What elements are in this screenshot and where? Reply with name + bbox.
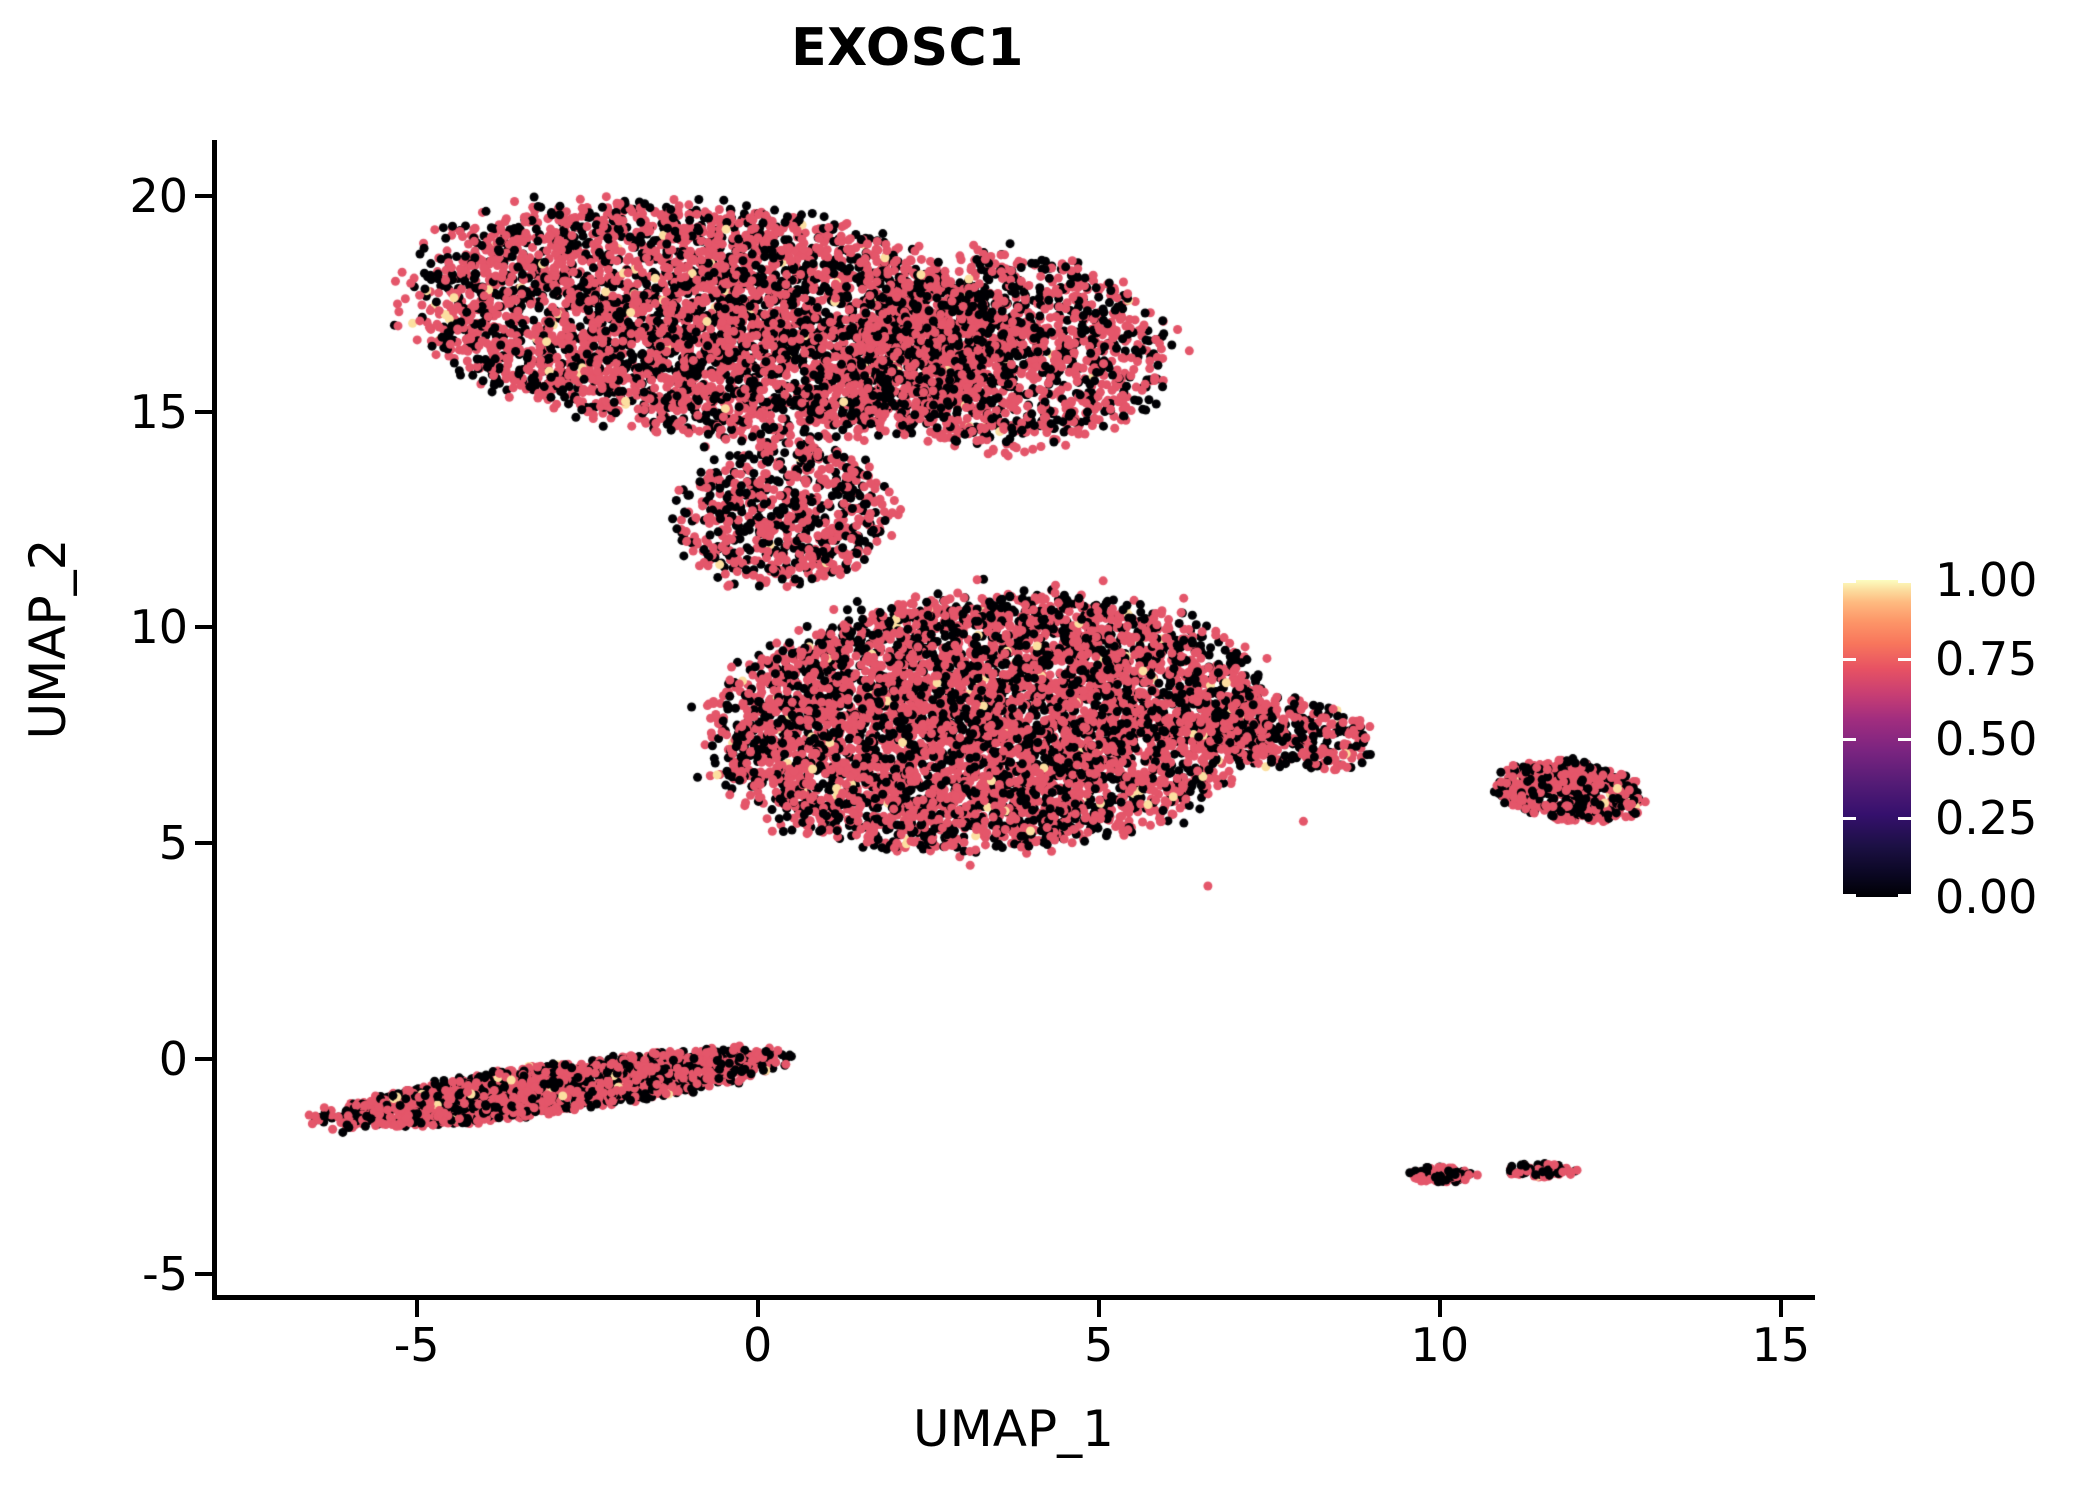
colorbar-tick-mark xyxy=(1898,894,1911,897)
x-tick-mark xyxy=(1438,1300,1442,1317)
y-tick-label: 10 xyxy=(129,600,188,654)
colorbar-tick-label: 0.25 xyxy=(1935,791,2037,845)
x-tick-mark xyxy=(415,1300,419,1317)
x-tick-label: 15 xyxy=(1752,1318,1811,1372)
y-tick-mark xyxy=(195,1057,212,1061)
scatter-plot-canvas xyxy=(212,140,1815,1300)
x-tick-label: 5 xyxy=(1084,1318,1113,1372)
y-axis-label: UMAP_2 xyxy=(19,339,77,939)
y-tick-mark xyxy=(195,625,212,629)
y-tick-label: 5 xyxy=(159,816,188,870)
colorbar-tick-mark xyxy=(1843,894,1856,897)
colorbar-tick-label: 0.00 xyxy=(1935,870,2037,924)
colorbar-tick-label: 0.50 xyxy=(1935,712,2037,766)
y-tick-label: 0 xyxy=(159,1032,188,1086)
x-axis-label: UMAP_1 xyxy=(212,1400,1815,1458)
page-title: EXOSC1 xyxy=(0,18,1815,78)
y-tick-mark xyxy=(195,194,212,198)
y-tick-mark xyxy=(195,841,212,845)
colorbar-tick-mark xyxy=(1843,738,1856,741)
umap-feature-plot: EXOSC1 -505101520 -5051015 UMAP_1 UMAP_2… xyxy=(0,0,2100,1500)
colorbar-tick-mark xyxy=(1843,580,1856,583)
colorbar-tick-mark xyxy=(1898,658,1911,661)
x-tick-label: 0 xyxy=(743,1318,772,1372)
y-tick-mark xyxy=(195,410,212,414)
x-axis-spine xyxy=(212,1295,1815,1300)
x-tick-mark xyxy=(1779,1300,1783,1317)
x-tick-label: -5 xyxy=(394,1318,440,1372)
y-tick-label: -5 xyxy=(142,1247,188,1301)
colorbar-tick-label: 1.00 xyxy=(1935,553,2037,607)
y-axis-spine xyxy=(212,140,217,1300)
x-tick-mark xyxy=(756,1300,760,1317)
y-tick-mark xyxy=(195,1272,212,1276)
colorbar-tick-mark xyxy=(1843,658,1856,661)
colorbar-tick-mark xyxy=(1898,580,1911,583)
colorbar-legend: 1.000.750.500.250.00 xyxy=(1843,580,1911,897)
y-tick-label: 15 xyxy=(129,385,188,439)
y-tick-label: 20 xyxy=(129,169,188,223)
colorbar-tick-mark xyxy=(1898,817,1911,820)
x-tick-mark xyxy=(1097,1300,1101,1317)
colorbar-tick-mark xyxy=(1898,738,1911,741)
colorbar-tick-mark xyxy=(1843,817,1856,820)
plot-axes: -505101520 -5051015 xyxy=(212,140,1815,1300)
colorbar-tick-label: 0.75 xyxy=(1935,632,2037,686)
x-tick-label: 10 xyxy=(1411,1318,1470,1372)
